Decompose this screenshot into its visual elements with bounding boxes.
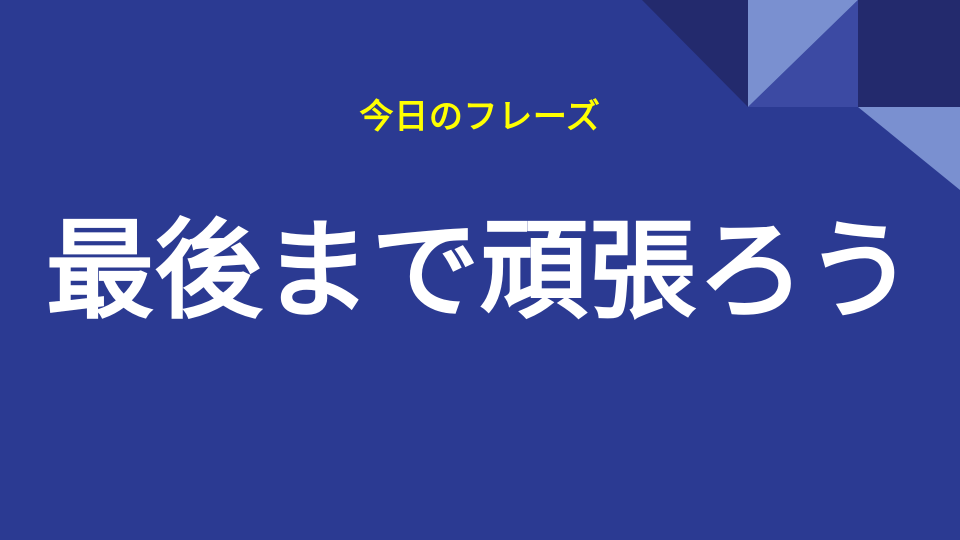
slide-heading: 最後まで頑張ろう [46,215,914,328]
slide-text-block: 今日のフレーズ 最後まで頑張ろう [0,0,960,540]
presentation-slide: 今日のフレーズ 最後まで頑張ろう [0,0,960,540]
slide-subtitle: 今日のフレーズ [359,98,600,137]
